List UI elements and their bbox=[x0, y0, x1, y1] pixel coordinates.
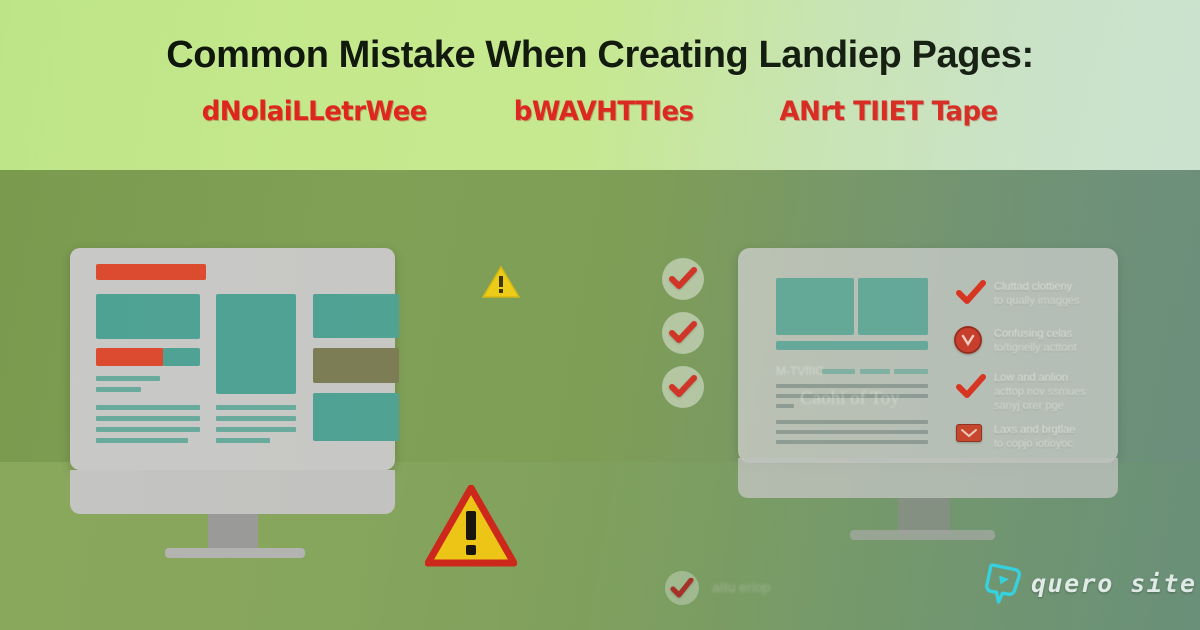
mock-cta-secondary bbox=[163, 348, 200, 366]
item-line-2: to copjo iotioyoc bbox=[994, 438, 1075, 452]
brand-logo-text: quero site bbox=[1031, 569, 1197, 598]
mock-text-line bbox=[776, 440, 928, 444]
center-check-2 bbox=[662, 312, 704, 354]
page-title: Common Mistake When Creating Landiep Pag… bbox=[166, 34, 1034, 78]
mock-image-block bbox=[216, 294, 296, 394]
right-checklist-item-4: Laxs and brgtlae to copjo iotioyoc bbox=[994, 424, 1075, 452]
right-monitor-bezel bbox=[738, 458, 1118, 498]
header: Common Mistake When Creating Landiep Pag… bbox=[0, 0, 1200, 170]
quero-site-logo-icon bbox=[984, 562, 1022, 604]
item-line-2: acttop nov ssmues bbox=[994, 386, 1086, 400]
item-line-2: to/tignelly acttont bbox=[994, 342, 1077, 356]
check-icon bbox=[669, 267, 697, 291]
check-icon bbox=[956, 374, 986, 400]
subtitle-row: dNolaiLLetrWee bWAVHTTIes ANrt TIIET Tap… bbox=[197, 96, 1002, 127]
mock-text-line bbox=[216, 427, 296, 432]
mock-text-line bbox=[776, 404, 794, 408]
poster-canvas: M-TVfIIC Caohi of Toy Cluttad clottieny … bbox=[0, 0, 1200, 630]
mock-image-left bbox=[776, 278, 854, 335]
right-monitor-screen: M-TVfIIC Caohi of Toy Cluttad clottieny … bbox=[738, 248, 1118, 463]
item-line-1: Confusing celas bbox=[994, 328, 1072, 340]
warning-triangle-small-icon bbox=[482, 265, 520, 299]
subtitle-item-1: dNolaiLLetrWee bbox=[202, 96, 427, 127]
bottom-check-item bbox=[665, 571, 699, 605]
warning-triangle-large-icon bbox=[425, 485, 517, 567]
mock-text-line bbox=[822, 369, 855, 374]
mock-text-line bbox=[96, 438, 188, 443]
check-icon bbox=[669, 375, 697, 399]
item-line-1: Cluttad clottieny bbox=[994, 281, 1072, 293]
right-warning-badge-icon bbox=[954, 326, 982, 354]
left-monitor-bezel bbox=[70, 470, 395, 514]
left-monitor-screen bbox=[70, 248, 395, 470]
check-icon bbox=[670, 578, 694, 599]
mock-image-right bbox=[858, 278, 928, 335]
item-line-1: Low and anlion bbox=[994, 372, 1068, 384]
item-line-3: sanyj orer pge bbox=[994, 400, 1086, 414]
bottom-check-label: aIIu eriop bbox=[712, 579, 770, 595]
right-checklist-item-1: Cluttad clottieny to qually imagges bbox=[994, 281, 1080, 309]
mock-text-line bbox=[776, 420, 928, 424]
subtitle-item-2: bWAVHTTIes bbox=[514, 96, 694, 127]
mock-body-ghost: Caohi of Toy bbox=[800, 388, 900, 410]
mock-bar bbox=[776, 341, 928, 350]
item-line-1: Laxs and brgtlae bbox=[994, 424, 1075, 436]
mock-heading-ghost: M-TVfIIC bbox=[776, 364, 824, 378]
check-icon bbox=[669, 321, 697, 345]
mock-sidebar-muted bbox=[313, 348, 399, 383]
right-check-3-icon bbox=[956, 374, 986, 405]
right-monitor-neck bbox=[898, 498, 950, 534]
right-monitor-base bbox=[850, 530, 995, 540]
mock-sidebar-block bbox=[313, 393, 399, 441]
center-check-3 bbox=[662, 366, 704, 408]
right-monitor: M-TVfIIC Caohi of Toy Cluttad clottieny … bbox=[738, 248, 1118, 548]
subtitle-item-3: ANrt TIIET Tape bbox=[780, 96, 998, 127]
mock-red-banner bbox=[96, 264, 206, 280]
mock-text-line bbox=[96, 416, 200, 421]
mock-cta-button bbox=[96, 348, 164, 366]
mock-text-line bbox=[216, 416, 296, 421]
mock-text-line bbox=[776, 430, 928, 434]
mock-text-line bbox=[96, 387, 141, 392]
right-checklist-item-2: Confusing celas to/tignelly acttont bbox=[994, 328, 1077, 356]
center-check-1 bbox=[662, 258, 704, 300]
mock-text-line bbox=[96, 427, 200, 432]
mock-text-line bbox=[860, 369, 890, 374]
right-folder-badge-icon bbox=[956, 424, 982, 442]
mock-hero-block bbox=[96, 294, 200, 339]
left-monitor-neck bbox=[208, 514, 258, 552]
check-icon bbox=[956, 280, 986, 306]
right-check-1-icon bbox=[956, 280, 986, 311]
mock-text-line bbox=[216, 438, 270, 443]
left-monitor bbox=[70, 248, 395, 548]
item-line-2: to qually imagges bbox=[994, 295, 1080, 309]
mock-text-line bbox=[894, 369, 928, 374]
mock-sidebar-block bbox=[313, 294, 399, 338]
mock-text-line bbox=[216, 405, 296, 410]
mock-text-line bbox=[96, 405, 200, 410]
brand-logo[interactable]: quero site bbox=[984, 562, 1197, 604]
right-checklist-item-3: Low and anlion acttop nov ssmues sanyj o… bbox=[994, 372, 1086, 413]
mock-text-line bbox=[96, 376, 160, 381]
left-monitor-base bbox=[165, 548, 305, 558]
